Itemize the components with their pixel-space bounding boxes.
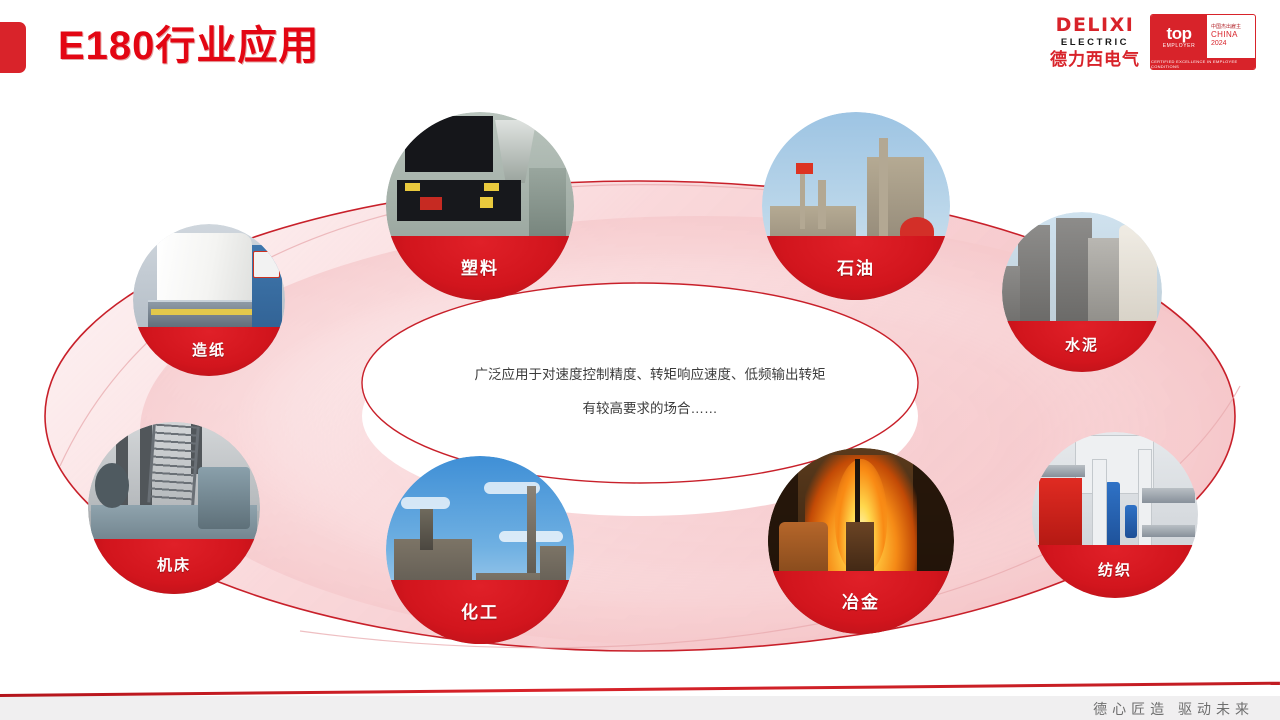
industry-node-petroleum-label: 石油	[762, 236, 950, 300]
page-title: E180行业应用	[58, 18, 319, 74]
industry-node-chemical-label: 化工	[386, 580, 574, 644]
badge-body: top EMPLOYER 中国杰出雇主 CHINA 2024	[1151, 15, 1255, 58]
badge-top-word: top	[1167, 25, 1192, 42]
industry-node-textile-label: 纺织	[1032, 545, 1198, 598]
industry-node-machine-tool-label: 机床	[88, 539, 260, 594]
industry-node-paper-label: 造纸	[133, 327, 285, 376]
center-description-line-2: 有较高要求的场合……	[400, 392, 900, 426]
badge-mark: top EMPLOYER	[1151, 15, 1207, 58]
badge-employer-word: EMPLOYER	[1163, 44, 1196, 49]
slide-root: E180行业应用 DELIXI ELECTRIC 德力西电气 top EMPLO…	[0, 0, 1280, 720]
industry-node-petroleum[interactable]: 石油	[762, 112, 950, 300]
top-employer-badge: top EMPLOYER 中国杰出雇主 CHINA 2024 CERTIFIED…	[1150, 14, 1256, 70]
footer-slogan: 德心匠造 驱动未来	[1093, 699, 1254, 719]
industry-node-plastic[interactable]: 塑料	[386, 112, 574, 300]
delixi-logo: DELIXI ELECTRIC 德力西电气	[1050, 16, 1140, 68]
brand-name-en-sub: ELECTRIC	[1061, 38, 1129, 48]
industry-node-machine-tool[interactable]: 机床	[88, 422, 260, 594]
industry-node-cement-label: 水泥	[1002, 321, 1162, 372]
industry-node-metallurgy[interactable]: 冶金	[768, 448, 954, 634]
footer-accent-line	[0, 682, 1280, 697]
title-accent-tab	[0, 22, 26, 73]
badge-footer-text: CERTIFIED EXCELLENCE IN EMPLOYEE CONDITI…	[1151, 58, 1255, 69]
badge-info: 中国杰出雇主 CHINA 2024	[1207, 15, 1255, 58]
brand-logo-group: DELIXI ELECTRIC 德力西电气 top EMPLOYER 中国杰出雇…	[1050, 14, 1256, 70]
industry-node-metallurgy-label: 冶金	[768, 571, 954, 634]
brand-name-cn: 德力西电气	[1050, 51, 1140, 68]
center-description-line-1: 广泛应用于对速度控制精度、转矩响应速度、低频输出转矩	[400, 358, 900, 392]
industry-node-textile[interactable]: 纺织	[1032, 432, 1198, 598]
industry-node-chemical[interactable]: 化工	[386, 456, 574, 644]
brand-name-en: DELIXI	[1056, 16, 1135, 35]
footer-strip	[0, 696, 1280, 720]
badge-year: 2024	[1211, 40, 1255, 49]
industry-node-plastic-label: 塑料	[386, 236, 574, 300]
industry-node-paper[interactable]: 造纸	[133, 224, 285, 376]
badge-country: CHINA	[1211, 30, 1255, 40]
industry-node-cement[interactable]: 水泥	[1002, 212, 1162, 372]
center-description: 广泛应用于对速度控制精度、转矩响应速度、低频输出转矩 有较高要求的场合……	[400, 358, 900, 426]
